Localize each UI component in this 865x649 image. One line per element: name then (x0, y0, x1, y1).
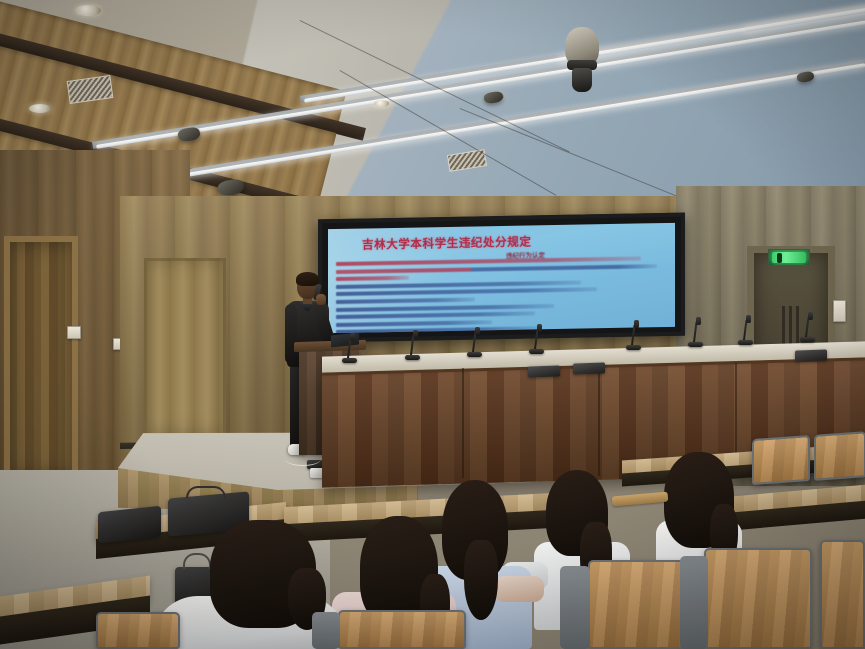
microphone-base (342, 358, 357, 363)
seat[interactable] (814, 431, 865, 481)
light-switch[interactable] (67, 326, 81, 339)
microphone-base (626, 345, 641, 350)
microphone-head (696, 317, 701, 325)
slide-body-text (336, 256, 667, 333)
microphone-head (413, 330, 418, 338)
slide-text-line (336, 304, 554, 312)
seat-side-panel (680, 556, 708, 649)
microphone-base (529, 349, 544, 354)
head-table-seam (598, 366, 600, 476)
floor-cable (285, 452, 321, 466)
slide-text-line (336, 312, 535, 320)
microphone-base (405, 355, 420, 360)
microphone-head (808, 312, 813, 320)
slide-text-line (336, 280, 581, 288)
ceiling-downlight (75, 5, 101, 16)
ceiling-downlight (29, 104, 51, 113)
seat[interactable] (96, 612, 180, 649)
ceiling-downlight (374, 100, 389, 107)
slide-text-line (336, 276, 409, 281)
table-nameplate (795, 349, 827, 361)
exit-sign (768, 249, 810, 266)
microphone-head (350, 333, 355, 341)
slide-text-line (336, 320, 492, 327)
microphone-base (738, 340, 753, 345)
microphone-head (746, 315, 751, 323)
microphone-base (800, 337, 815, 342)
bag-handle (186, 486, 226, 498)
wall-control-panel[interactable] (833, 300, 846, 322)
table-nameplate (528, 365, 560, 377)
student-arm (494, 576, 544, 602)
side-door-left[interactable] (4, 236, 78, 476)
slide-surface: 吉林大学本科学生违纪处分规定 违纪行为认定 (328, 223, 675, 333)
wall-panel-inset (144, 258, 226, 436)
seat[interactable] (820, 540, 865, 649)
microphone-head (475, 327, 480, 335)
slide-text-line (336, 327, 541, 334)
table-nameplate (573, 362, 605, 374)
security-camera-icon (565, 27, 599, 93)
microphone-base (688, 342, 703, 347)
slide-text-line (336, 264, 657, 274)
seat-side-panel (560, 566, 590, 649)
seat[interactable] (704, 548, 812, 649)
microphone-head (537, 324, 542, 332)
slide-text-line (336, 288, 597, 297)
projection-screen: 吉林大学本科学生违纪处分规定 违纪行为认定 (318, 213, 685, 343)
microphone-head (634, 320, 639, 328)
microphone-base (467, 352, 482, 357)
presenter-hand (316, 294, 326, 305)
running-man-icon (777, 253, 782, 263)
seat[interactable] (338, 610, 466, 649)
head-table-seam (462, 368, 464, 478)
presenter-arm-left (285, 304, 297, 364)
slide-text-line (336, 297, 475, 304)
lecture-hall-photo: 吉林大学本科学生违纪处分规定 违纪行为认定 (0, 0, 865, 649)
student-ponytail (464, 540, 498, 620)
seat[interactable] (752, 435, 810, 485)
